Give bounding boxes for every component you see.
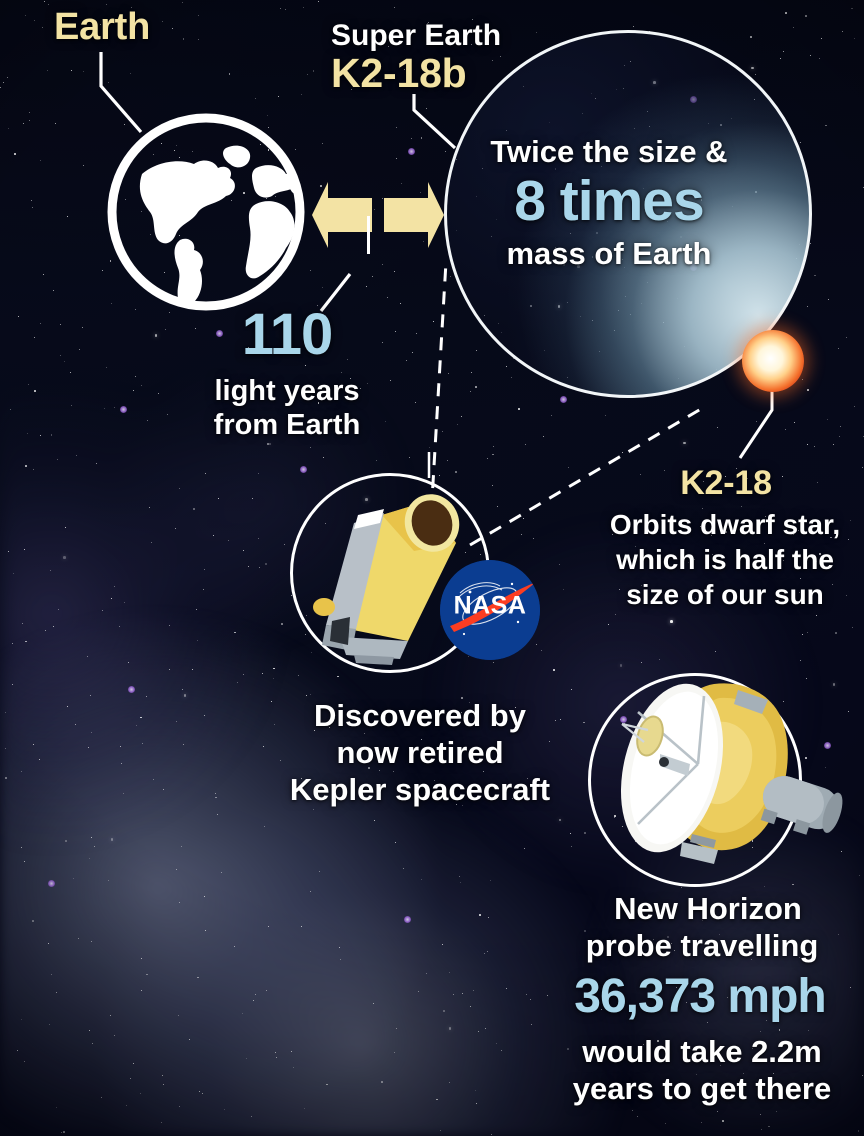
distance-line-1: light years	[182, 376, 392, 406]
nasa-wordmark: NASA	[440, 592, 540, 621]
nasa-logo: NASA	[440, 560, 540, 660]
kepler-caption-line-2: now retired	[260, 737, 580, 769]
new-horizon-caption-line-2: probe travelling	[540, 930, 864, 962]
new-horizon-caption-line-1: New Horizon	[552, 893, 864, 925]
infographic-canvas: Earth Super Earth K2-18b Twice	[0, 0, 864, 1136]
kepler-caption-line-3: Kepler spacecraft	[250, 774, 590, 806]
kepler-caption-line-1: Discovered by	[260, 700, 580, 732]
size-comparison-double-arrow-icon	[312, 172, 444, 258]
arrow-divider-line	[367, 216, 370, 254]
new-horizon-caption-line-4: years to get there	[540, 1073, 864, 1105]
star-line-2: which is half the	[586, 545, 864, 574]
dwarf-star-k2-18-illustration	[742, 330, 804, 392]
distance-line-2: from Earth	[182, 410, 392, 440]
super-earth-name: K2-18b	[331, 52, 467, 95]
new-horizon-caption-line-3: would take 2.2m	[540, 1036, 864, 1068]
earth-globe-icon	[106, 112, 306, 312]
planet-fact-line-3: mass of Earth	[459, 238, 759, 270]
planet-fact-highlight: 8 times	[459, 172, 759, 231]
star-line-3: size of our sun	[586, 580, 864, 609]
earth-label: Earth	[54, 8, 150, 48]
star-name: K2-18	[596, 466, 856, 501]
new-horizon-probe-icon	[586, 668, 848, 894]
new-horizon-speed: 36,373 mph	[536, 972, 864, 1022]
distance-value: 110	[202, 305, 372, 365]
star-line-1: Orbits dwarf star,	[586, 510, 864, 539]
super-earth-kicker: Super Earth	[331, 20, 501, 51]
planet-fact-line-1: Twice the size &	[459, 136, 759, 168]
